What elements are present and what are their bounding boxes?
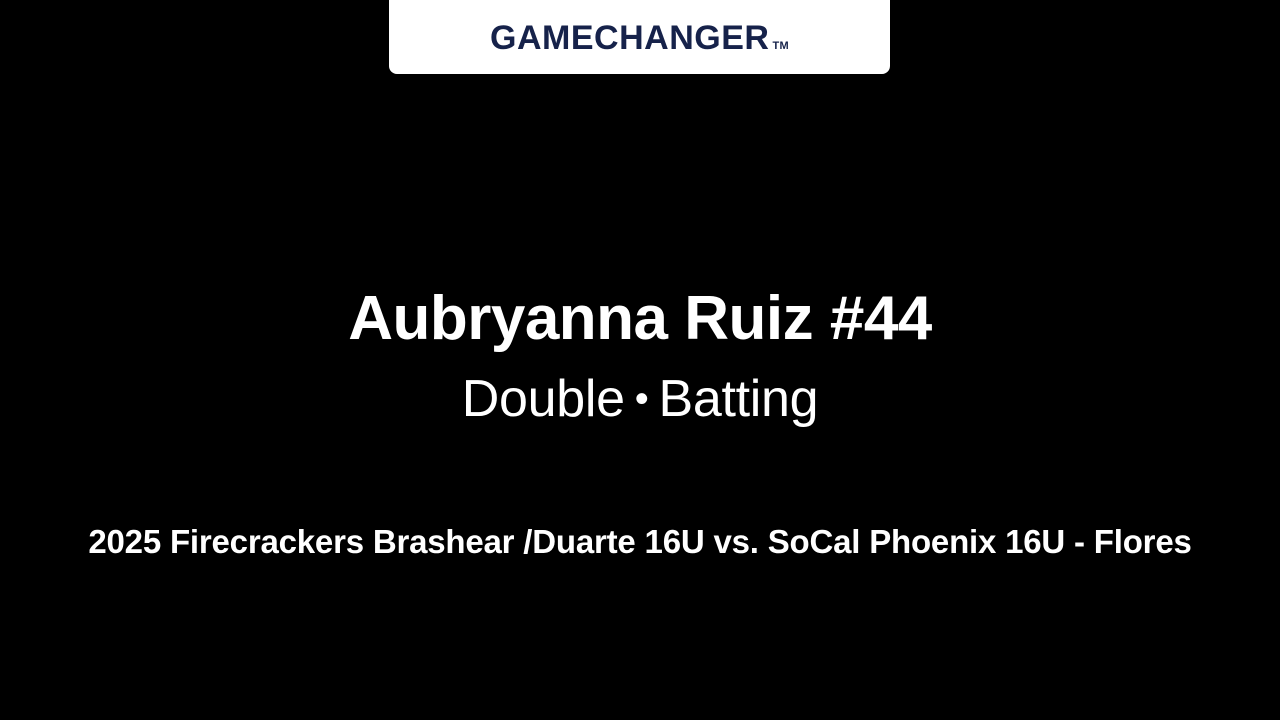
highlight-video-frame: GAMECHANGER TM Aubryanna Ruiz #44 Double… [0, 0, 1280, 720]
bullet-separator-icon: • [625, 377, 659, 421]
game-caption-line-2: - Flores [1074, 523, 1192, 560]
game-caption: 2025 Firecrackers Brashear /Duarte 16U v… [64, 517, 1216, 567]
play-summary: Double•Batting [0, 371, 1280, 428]
play-category-label: Batting [658, 370, 818, 428]
gamechanger-brand-card: GAMECHANGER TM [389, 0, 890, 74]
trademark-icon: TM [772, 41, 788, 52]
game-caption-line-1: 2025 Firecrackers Brashear /Duarte 16U v… [88, 523, 1065, 560]
gamechanger-wordmark: GAMECHANGER [490, 21, 769, 55]
player-heading: Aubryanna Ruiz #44 [0, 286, 1280, 351]
highlight-text-block: Aubryanna Ruiz #44 Double•Batting 2025 F… [0, 0, 1280, 720]
brand-lockup: GAMECHANGER TM [490, 21, 789, 55]
play-type-label: Double [462, 370, 625, 428]
